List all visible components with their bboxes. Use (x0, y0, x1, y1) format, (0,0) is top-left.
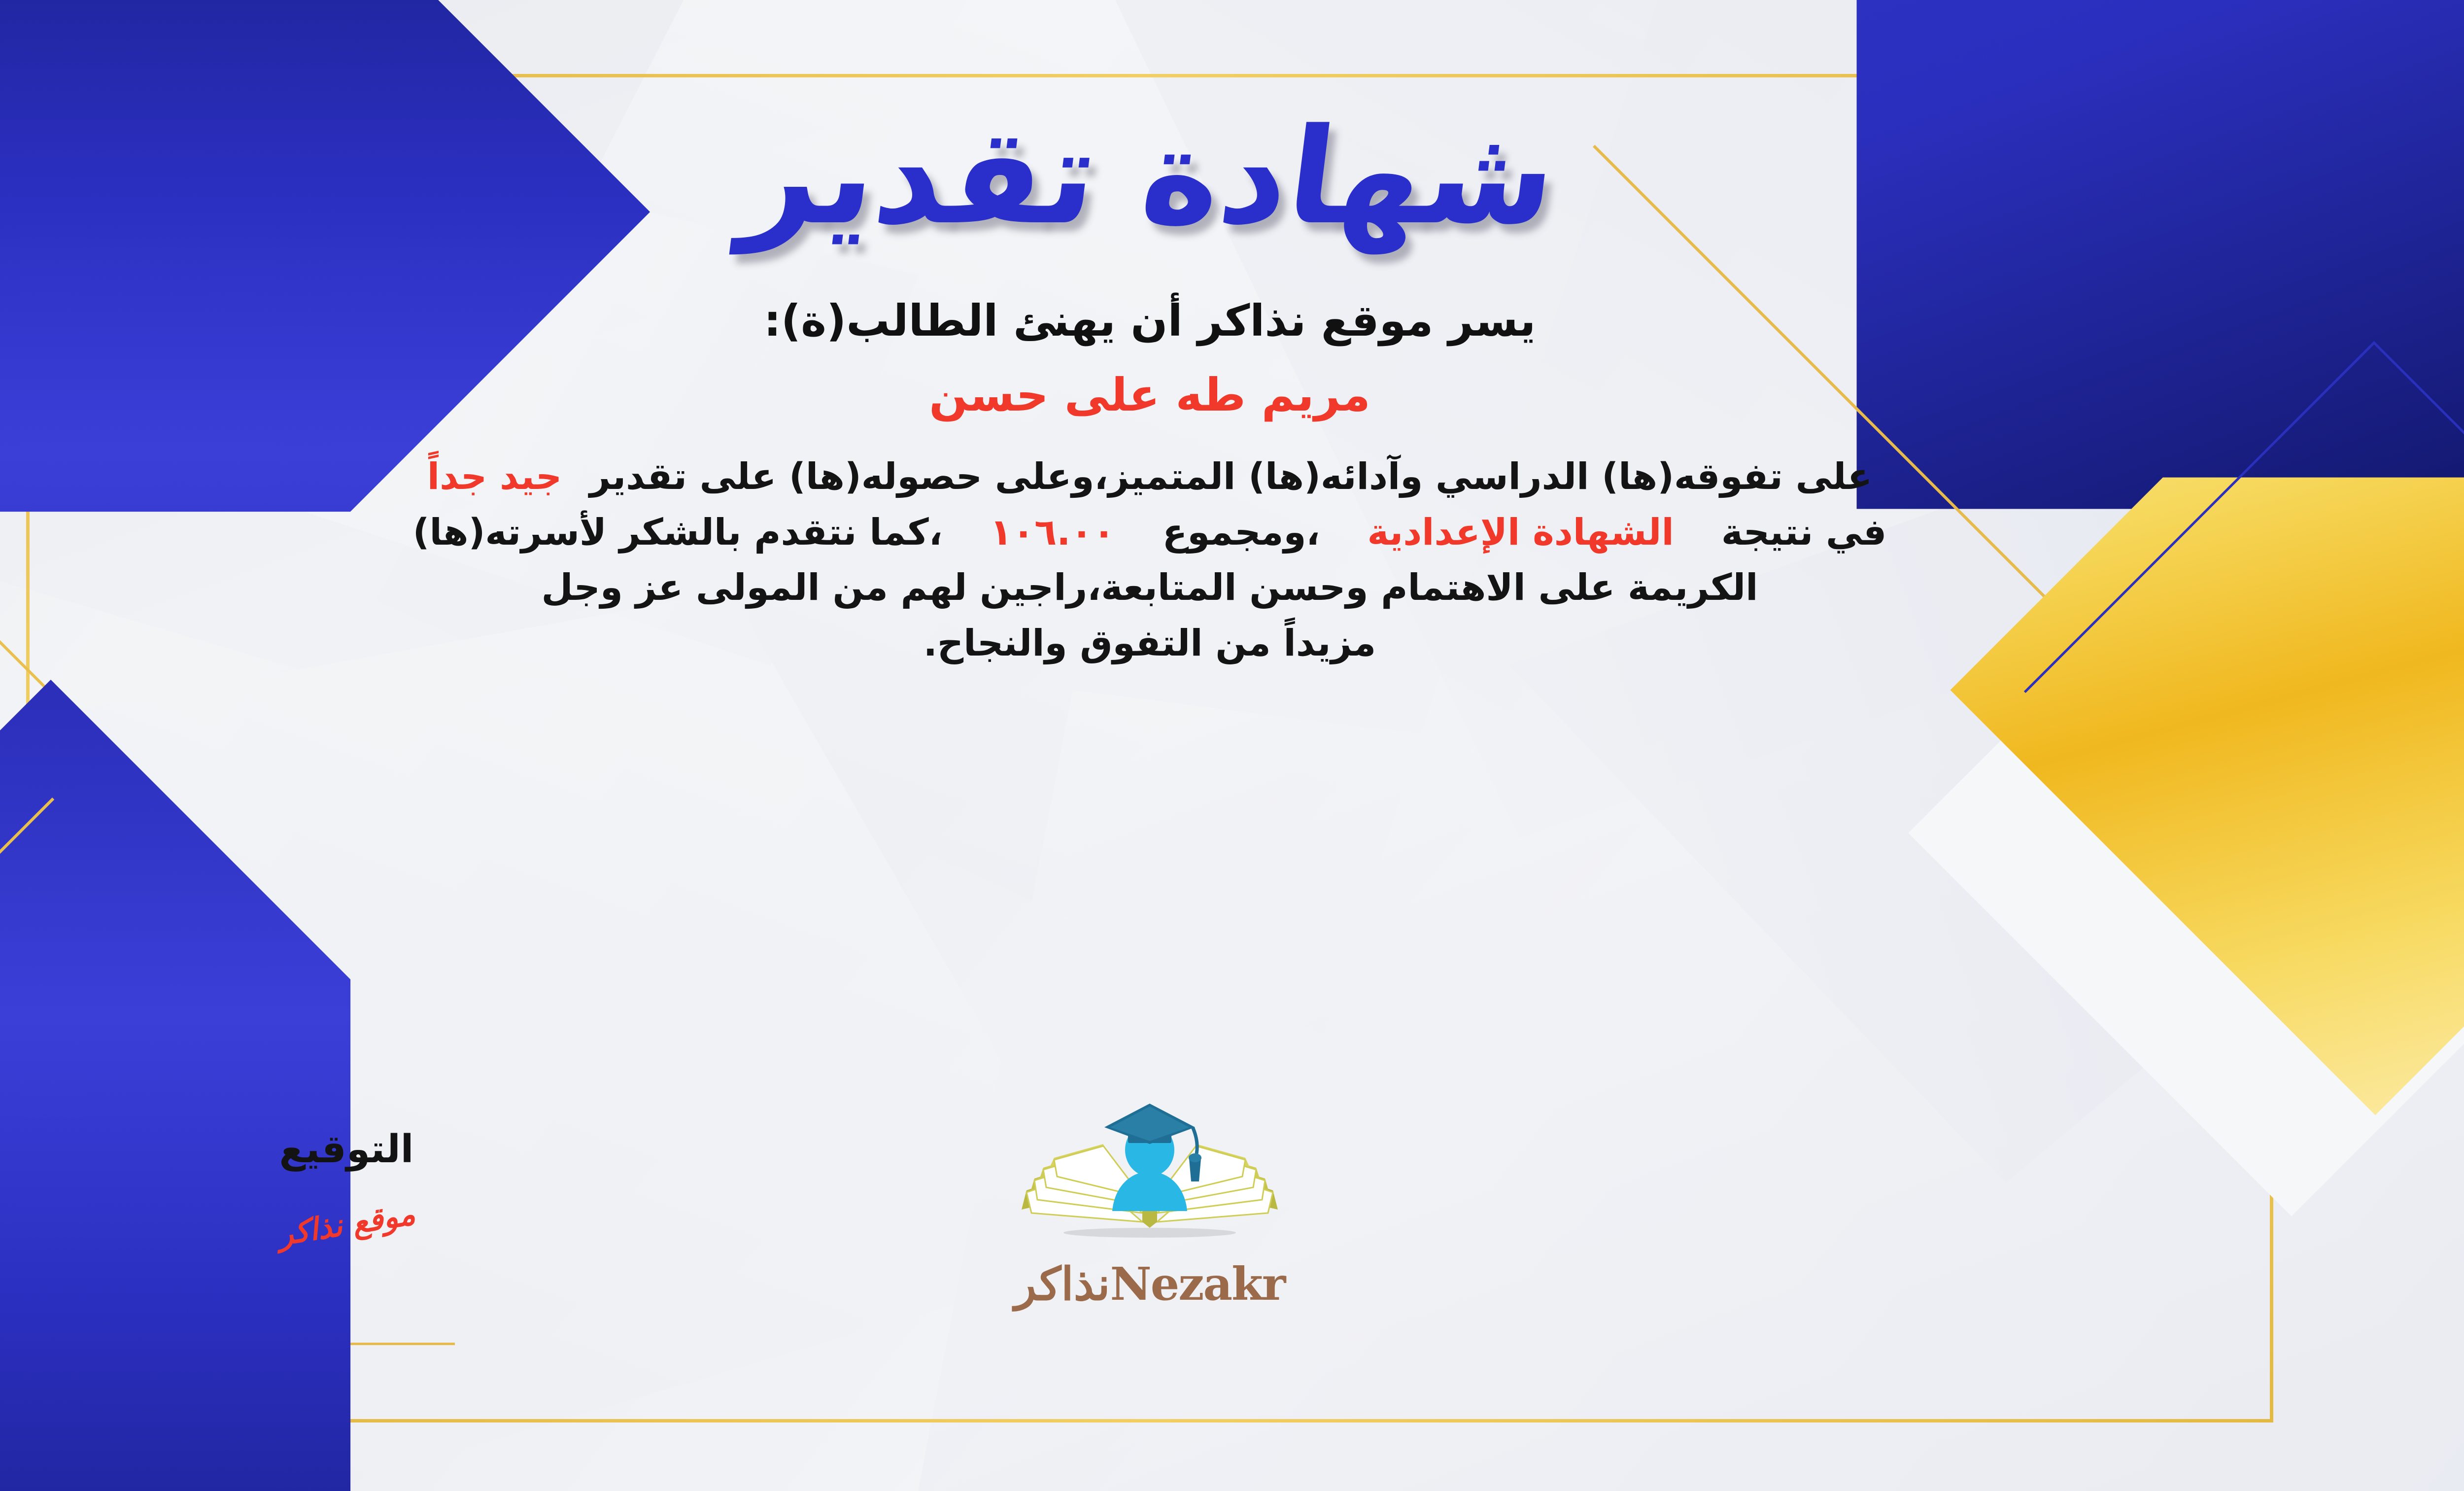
graduate-book-icon (1012, 1099, 1288, 1261)
signature-handwriting: موقع نذاكر (193, 1182, 500, 1266)
certificate-page: شهادة تقدير يسر موقع نذاكر أن يهنئ الطال… (0, 0, 2464, 1491)
certificate-content: شهادة تقدير يسر موقع نذاكر أن يهنئ الطال… (31, 79, 2268, 1417)
logo-wordmark: Nezakrنذاكر (948, 1257, 1352, 1311)
body-line-1: على تفوقه(ها) الدراسي وآدائه(ها) المتميز… (31, 449, 2268, 504)
certificate-body: على تفوقه(ها) الدراسي وآدائه(ها) المتميز… (31, 449, 2268, 671)
gold-frame-left (26, 74, 30, 1422)
certificate-footer: التوقيع موقع نذاكر (31, 1099, 2268, 1404)
body-line-3: الكريمة على الاهتمام وحسن المتابعة،راجين… (31, 560, 2268, 615)
student-name: مريم طه على حسن (31, 369, 2268, 421)
gold-frame-bottom (26, 1419, 2273, 1422)
site-logo: Nezakrنذاكر (948, 1099, 1352, 1311)
exam-name: الشهادة الإعدادية (1368, 511, 1674, 554)
body-line-2-suffix: ،كما نتقدم بالشكر لأسرته(ها) (413, 511, 943, 554)
certificate-title: شهادة تقدير (22, 101, 2278, 253)
body-line-1-text: على تفوقه(ها) الدراسي وآدائه(ها) المتميز… (589, 455, 1872, 498)
body-line-4: مزيداً من التفوق والنجاح. (31, 616, 2268, 671)
total-score: ١٠٦.٠٠ (990, 511, 1115, 554)
logo-latin-text: Nezakr (1110, 1257, 1285, 1311)
logo-arabic-text: نذاكر (1015, 1257, 1110, 1311)
congratulation-line: يسر موقع نذاكر أن يهنئ الطالب(ة): (31, 295, 2268, 346)
signature-label: التوقيع (194, 1127, 499, 1172)
body-line-2: في نتيجةالشهادة الإعدادية،ومجموع١٠٦.٠٠،ك… (31, 505, 2268, 560)
body-line-2-prefix: في نتيجة (1721, 511, 1887, 554)
body-line-2-mid: ،ومجموع (1163, 511, 1320, 554)
signature-block: التوقيع موقع نذاكر (194, 1127, 499, 1242)
grade-value: جيد جداً (427, 455, 562, 498)
